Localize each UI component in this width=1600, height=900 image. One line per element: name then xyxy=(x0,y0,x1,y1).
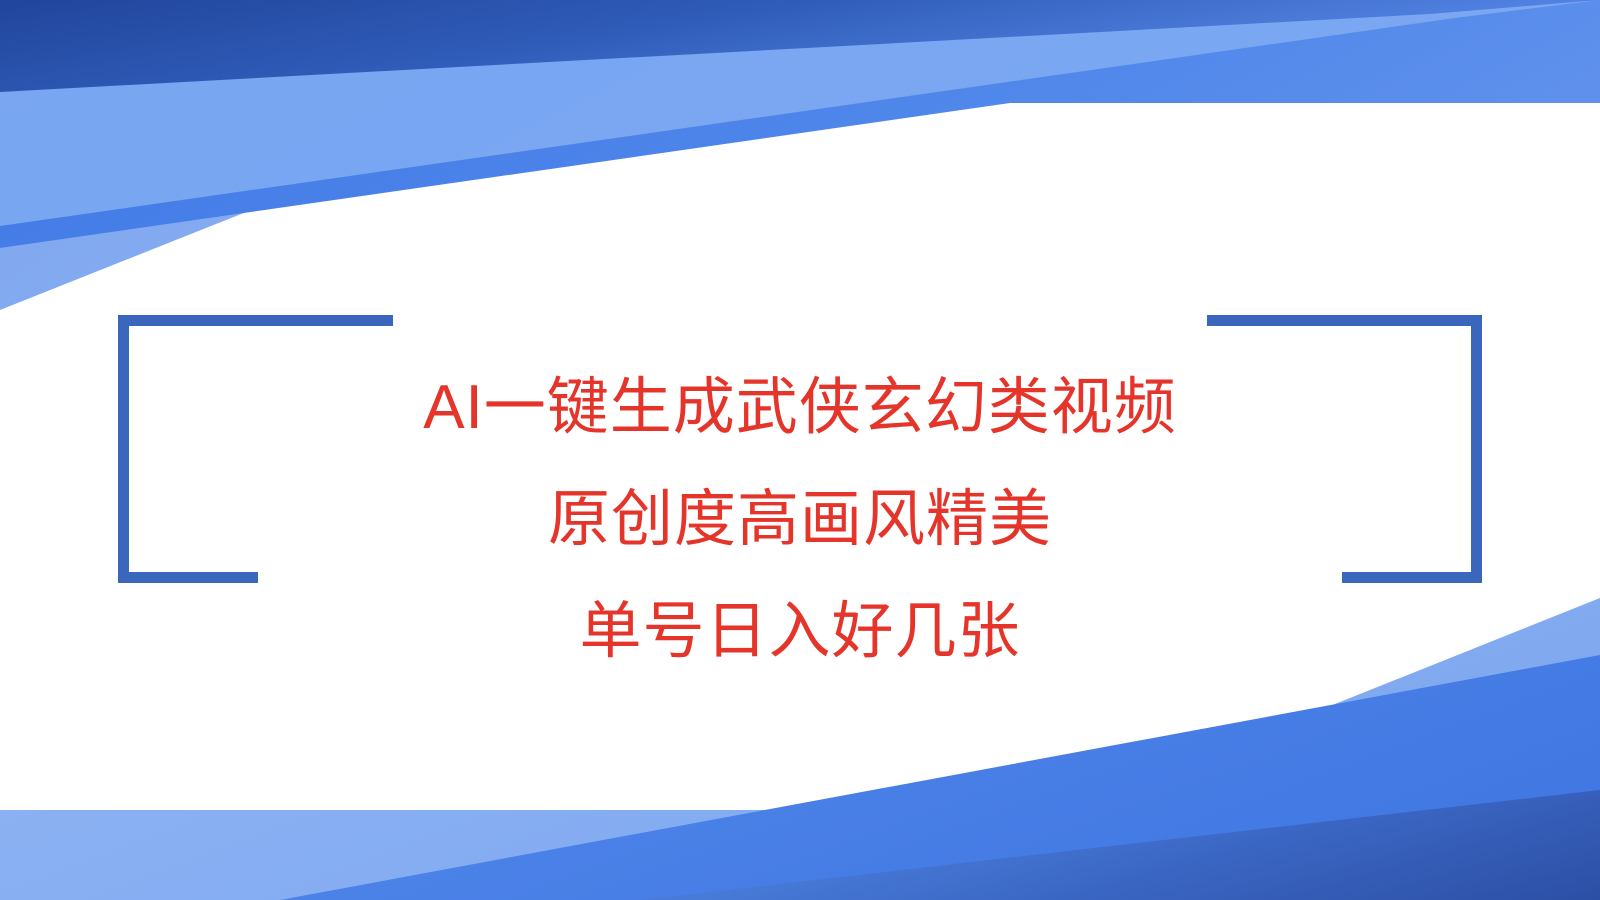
headline-line-2: 原创度高画风精美 xyxy=(190,464,1410,576)
headline-line-3: 单号日入好几张 xyxy=(190,576,1410,688)
headline-line-1: AI一键生成武侠玄幻类视频 xyxy=(190,352,1410,464)
banner-canvas: AI一键生成武侠玄幻类视频 原创度高画风精美 单号日入好几张 xyxy=(0,0,1600,900)
headline-block: AI一键生成武侠玄幻类视频 原创度高画风精美 单号日入好几张 xyxy=(190,352,1410,688)
